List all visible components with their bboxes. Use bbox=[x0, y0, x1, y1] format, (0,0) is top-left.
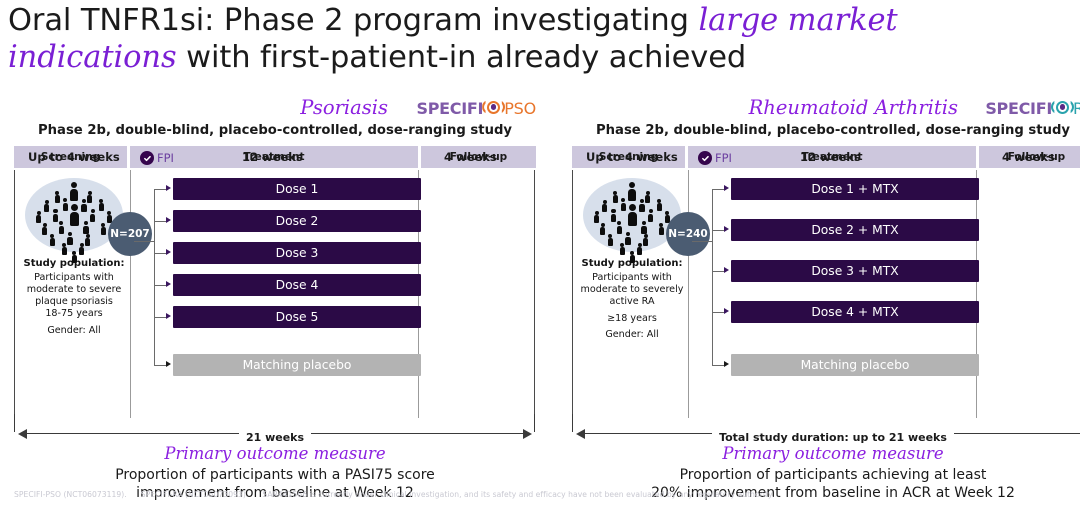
footnote-disclaimer: SAR441566 is currently under clinical in… bbox=[262, 490, 774, 499]
fpi-label: FPI bbox=[157, 151, 174, 165]
study-population-pso: Study population: Participants with mode… bbox=[20, 178, 128, 337]
population-line-3: active RA bbox=[609, 296, 654, 307]
check-icon bbox=[140, 151, 154, 165]
arm-bar-placebo: Matching placebo bbox=[173, 354, 421, 376]
logo-word-indication: RA bbox=[1073, 99, 1080, 118]
study-population-ra: Study population: Participants with mode… bbox=[578, 178, 686, 341]
target-icon bbox=[483, 99, 504, 117]
footnote-ra-registration: SPECIFI-RA (NCT06073093). bbox=[141, 490, 249, 499]
duration-row-pso: Up to 4 weeks FPI 12 weeks 4 weeks bbox=[14, 150, 536, 170]
schema-body-ra: Up to 4 weeks FPI 12 weeks 4 weeks Study bbox=[572, 170, 1080, 418]
followup-duration: 4 weeks bbox=[444, 150, 497, 164]
logo-word-specifi: SPECIFI bbox=[417, 99, 484, 118]
arm-bar: Dose 3 + MTX bbox=[731, 260, 979, 282]
indication-title-pso: Psoriasis bbox=[300, 96, 388, 119]
population-line-3: plaque psoriasis bbox=[35, 296, 113, 307]
title-part-2: with first-patient-in already achieved bbox=[177, 40, 747, 75]
panel-header-pso: Psoriasis SPECIFI PSO Phase 2b, double-b… bbox=[14, 96, 536, 122]
logo-word-indication: PSO bbox=[504, 99, 536, 118]
total-duration-label: 21 weeks bbox=[239, 431, 311, 444]
population-line-5: Gender: All bbox=[20, 325, 128, 337]
arm-bar: Dose 4 + MTX bbox=[731, 301, 979, 323]
study-design-subtitle-ra: Phase 2b, double-blind, placebo-controll… bbox=[572, 123, 1080, 138]
outcome-heading: Primary outcome measure bbox=[572, 444, 1080, 463]
check-icon bbox=[698, 151, 712, 165]
total-duration-ra: Total study duration: up to 21 weeks bbox=[572, 422, 1080, 446]
outcome-line-1: Proportion of participants with a PASI75… bbox=[115, 467, 435, 483]
arm-bar-placebo: Matching placebo bbox=[731, 354, 979, 376]
page-title: Oral TNFR1si: Phase 2 program investigat… bbox=[8, 2, 1072, 76]
indication-title-ra: Rheumatoid Arthritis bbox=[749, 96, 958, 119]
arm-bar: Dose 1 + MTX bbox=[731, 178, 979, 200]
arm-bar: Dose 5 bbox=[173, 306, 421, 328]
population-line-1: Participants with bbox=[34, 272, 114, 283]
treatment-duration: 12 weeks bbox=[800, 150, 861, 164]
arm-bar: Dose 2 bbox=[173, 210, 421, 232]
target-icon bbox=[1052, 99, 1073, 117]
fpi-label: FPI bbox=[715, 151, 732, 165]
schema-body-pso: Up to 4 weeks FPI 12 weeks 4 weeks bbox=[14, 170, 536, 418]
panel-header-ra: Rheumatoid Arthritis SPECIFI RA Phase 2b… bbox=[572, 96, 1080, 122]
total-duration-pso: 21 weeks bbox=[14, 422, 536, 446]
population-line-2: moderate to severely bbox=[581, 284, 684, 295]
study-schema-pso: Screening Treatment Follow-up Up to 4 we… bbox=[14, 146, 536, 446]
arm-bar: Dose 1 bbox=[173, 178, 421, 200]
footnote: SPECIFI-PSO (NCT06073119).SPECIFI-RA (NC… bbox=[14, 490, 1074, 499]
arm-bar: Dose 3 bbox=[173, 242, 421, 264]
population-details: Participants with moderate to severely a… bbox=[578, 272, 686, 341]
duration-row-ra: Up to 4 weeks FPI 12 weeks 4 weeks bbox=[572, 150, 1080, 170]
screening-duration: Up to 4 weeks bbox=[28, 150, 120, 164]
population-line-5: Gender: All bbox=[578, 329, 686, 341]
panels-container: Psoriasis SPECIFI PSO Phase 2b, double-b… bbox=[0, 96, 1080, 494]
total-duration-label: Total study duration: up to 21 weeks bbox=[712, 431, 954, 444]
specifi-pso-logo: SPECIFI PSO bbox=[417, 98, 536, 118]
fpi-marker-pso: FPI bbox=[140, 151, 174, 165]
population-line-1: Participants with bbox=[592, 272, 672, 283]
population-line-4: ≥18 years bbox=[578, 313, 686, 325]
title-part-1: Oral TNFR1si: Phase 2 program investigat… bbox=[8, 3, 699, 38]
arm-bar: Dose 4 bbox=[173, 274, 421, 296]
logo-word-specifi: SPECIFI bbox=[985, 99, 1052, 118]
study-design-subtitle-pso: Phase 2b, double-blind, placebo-controll… bbox=[14, 123, 536, 138]
treatment-duration: 12 weeks bbox=[242, 150, 303, 164]
population-line-2: moderate to severe bbox=[27, 284, 122, 295]
treatment-arms-ra: Dose 1 + MTX Dose 2 + MTX Dose 3 + MTX D… bbox=[692, 178, 1080, 390]
outcome-line-1: Proportion of participants achieving at … bbox=[680, 467, 987, 483]
followup-duration: 4 weeks bbox=[1002, 150, 1055, 164]
specifi-ra-logo: SPECIFI RA bbox=[985, 98, 1080, 118]
arm-bar: Dose 2 + MTX bbox=[731, 219, 979, 241]
outcome-heading: Primary outcome measure bbox=[14, 444, 536, 463]
treatment-arms-pso: Dose 1 Dose 2 Dose 3 Dose 4 Dose 5 bbox=[134, 178, 534, 390]
panel-psoriasis: Psoriasis SPECIFI PSO Phase 2b, double-b… bbox=[14, 96, 536, 494]
population-details: Participants with moderate to severe pla… bbox=[20, 272, 128, 337]
footnote-pso-registration: SPECIFI-PSO (NCT06073119). bbox=[14, 490, 127, 499]
population-line-4: 18-75 years bbox=[45, 308, 102, 319]
slide-root: Oral TNFR1si: Phase 2 program investigat… bbox=[0, 0, 1080, 506]
study-schema-ra: Screening Treatment Follow-up Up to 4 we… bbox=[572, 146, 1080, 446]
fpi-marker-ra: FPI bbox=[698, 151, 732, 165]
screening-duration: Up to 4 weeks bbox=[586, 150, 678, 164]
panel-rheumatoid-arthritis: Rheumatoid Arthritis SPECIFI RA Phase 2b… bbox=[572, 96, 1080, 494]
